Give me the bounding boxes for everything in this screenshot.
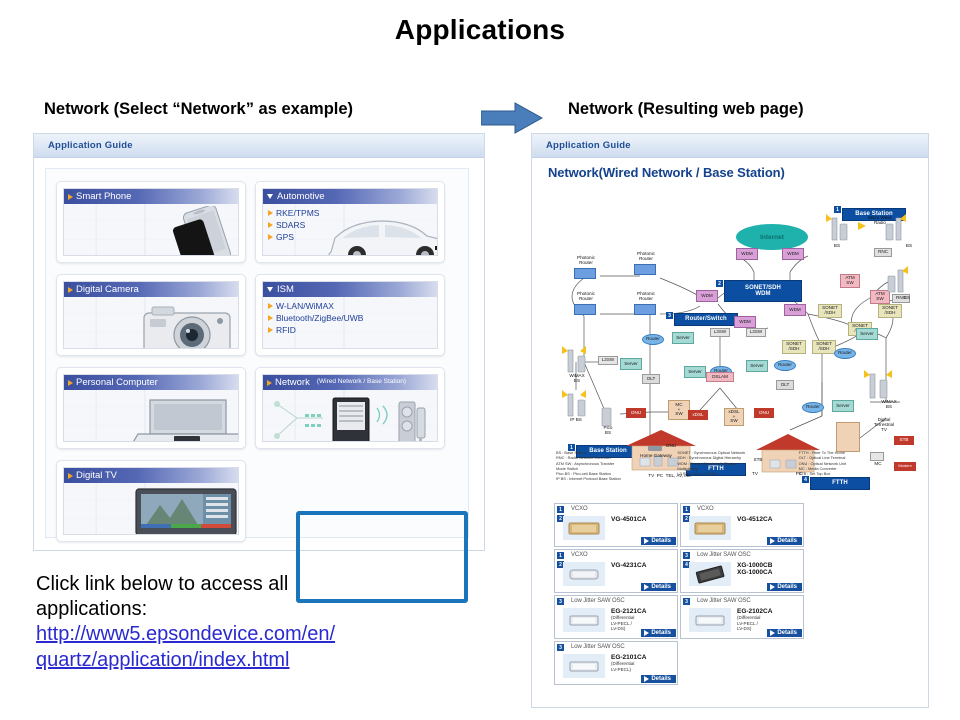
product-card[interactable]: 3 Low Jitter SAW OSC EG-2101CA (Differen… [554,641,678,685]
product-category: Low Jitter SAW OSC [555,642,677,650]
list-item-label: RKE/TPMS [276,208,319,218]
tile-ism[interactable]: ISM W-LAN/WiMAX Bluetooth/ZigBee/UWB RFI… [255,274,445,356]
details-label: Details [651,676,671,682]
tile-label: Automotive [277,191,325,202]
product-image [689,516,731,540]
instruction-line-1: Click link below to access all [36,573,288,595]
product-card[interactable]: 1 2 VCXO VG-4501CA Details [554,503,678,547]
product-badge: 1 [557,552,564,559]
caption-left: Network (Select “Network” as example) [44,100,353,119]
arrow-marker-icon [68,380,73,386]
node-label-wimax-bs-left: WiMAXBS [558,374,596,384]
instruction-line-2: applications: [36,598,147,620]
arrow-marker-icon [644,676,649,682]
tile-digital-camera[interactable]: Digital Camera [56,274,246,356]
arrow-marker-icon [644,584,649,590]
details-button[interactable]: Details [641,537,676,545]
product-image [689,608,731,632]
tile-automotive[interactable]: Automotive RKE/TPMS SDARS GPS [255,181,445,263]
caret-down-icon [267,194,273,199]
product-image [563,562,605,586]
legend-column-3: FTTH : Fiber To The Home OLT : Optical L… [799,450,912,482]
network-tile-selection-highlight [296,511,468,603]
list-item-label: W-LAN/WiMAX [276,301,334,311]
product-image [689,562,731,586]
car-illustration [323,208,437,255]
arrow-marker-icon [770,630,775,636]
tile-network[interactable]: Network (Wired Network / Base Station) [255,367,445,449]
product-badge: 1 [557,506,564,513]
right-arrow-icon [481,101,543,135]
list-item-label: RFID [276,325,296,335]
link-url-line-1: http://www5.epsondevice.com/en/ [36,623,335,645]
product-name: EG-2101CA (Differential LV-PECL) [611,654,646,672]
right-browser-window: Application Guide Network(Wired Network … [531,133,929,708]
node-label-digital-terrestrial-tv: DigitalTerrestrialTV [862,418,906,433]
application-index-link[interactable]: http://www5.epsondevice.com/en/ quartz/a… [36,622,506,672]
product-card[interactable]: 1 2 VCXO VG-4512CA Details [680,503,804,547]
arrow-marker-icon [268,315,273,321]
node-label-wimax-bs-right: WiMAXBS [870,400,908,410]
product-category: Low Jitter SAW OSC [681,596,803,604]
product-category: VCXO [681,504,803,512]
product-name: EG-2121CA (Differential LV-PECL / LV-DS) [611,608,646,631]
network-page-title: Network(Wired Network / Base Station) [548,165,785,180]
list-item-label: SDARS [276,220,305,230]
tile-personal-computer[interactable]: Personal Computer [56,367,246,449]
right-app-guide-header: Application Guide [532,134,928,158]
tile-row: Smart Phone [56,181,458,263]
arrow-marker-icon [770,538,775,544]
details-button[interactable]: Details [641,583,676,591]
node-label-bs-left: BS [826,244,848,249]
left-app-guide-title: Application Guide [48,140,133,151]
smart-phone-illustration [160,206,238,255]
legend-column-2: SONET : Synchronous Optical Network SDH … [677,450,790,482]
arrow-marker-icon [268,303,273,309]
list-item[interactable]: RKE/TPMS [268,208,319,218]
details-button[interactable]: Details [641,629,676,637]
product-column-right: 1 2 VCXO VG-4512CA Details 3 4 Low Jitte… [680,503,804,641]
node-label-bs-right: BS [898,244,920,249]
product-category: Low Jitter SAW OSC [555,596,677,604]
arrow-marker-icon [644,538,649,544]
left-app-guide-header: Application Guide [34,134,484,158]
tile-digital-tv[interactable]: Digital TV [56,460,246,542]
diagram-legend: BS : Base Station RNC : Radio Network Co… [556,450,912,482]
product-name-text: EG-2102CA [737,608,772,615]
arrow-marker-icon [68,473,73,479]
product-name: VG-4231CA [611,562,646,569]
product-name: EG-2102CA (Differential LV-PECL / LV-DS) [737,608,772,631]
tile-label: Network [275,377,310,388]
product-name-text: EG-2101CA [611,654,646,661]
details-button[interactable]: Details [767,537,802,545]
list-item-label: Bluetooth/ZigBee/UWB [276,313,363,323]
right-app-guide-title: Application Guide [546,140,631,151]
node-label-pico-bs: PicoBS [594,426,622,436]
product-badge: 3 [557,644,564,651]
product-subtext: (Differential LV-PECL) [611,661,646,671]
details-label: Details [651,538,671,544]
tile-label: Personal Computer [76,377,158,388]
product-name: VG-4501CA [611,516,646,523]
node-label-bs-mid: BS [896,296,918,301]
product-badge: 3 [683,598,690,605]
list-item[interactable]: SDARS [268,220,319,230]
product-badge: 3 [557,598,564,605]
product-card[interactable]: 3 Low Jitter SAW OSC EG-2121CA (Differen… [554,595,678,639]
legend-column-1: BS : Base Station RNC : Radio Network Co… [556,450,669,482]
list-item[interactable]: W-LAN/WiMAX [268,301,363,311]
node-building [836,422,860,452]
node-label-ip-bs: IP BS [560,418,592,423]
page-title: Applications [0,14,960,46]
product-column-left: 1 2 VCXO VG-4501CA Details 1 2 VCXO [554,503,678,687]
tile-label: ISM [277,284,294,295]
application-guide-tile-grid: Smart Phone [45,168,469,538]
tile-bullet-list: RKE/TPMS SDARS GPS [268,208,319,244]
product-badge: 1 [683,506,690,513]
details-button[interactable]: Details [767,629,802,637]
tile-smart-phone[interactable]: Smart Phone [56,181,246,263]
tile-bullet-list: W-LAN/WiMAX Bluetooth/ZigBee/UWB RFID [268,301,363,337]
details-button[interactable]: Details [767,583,802,591]
arrow-marker-icon [268,210,273,216]
camera-illustration [136,301,238,348]
product-category: VCXO [555,550,677,558]
node-label-micro-wave-radio: Micro WaveRadio [858,216,902,226]
arrow-marker-icon [68,194,73,200]
left-browser-window: Application Guide Smart Phone [33,133,485,551]
product-image [563,516,605,540]
node-stb-terrestrial: STB [894,436,914,445]
list-item[interactable]: GPS [268,232,319,242]
product-card[interactable]: 3 Low Jitter SAW OSC EG-2102CA (Differen… [680,595,804,639]
caret-down-icon [267,287,273,292]
arrow-marker-icon [267,380,272,386]
arrow-marker-icon [644,630,649,636]
tile-label: Smart Phone [76,191,131,202]
arrow-marker-icon [268,222,273,228]
arrow-marker-icon [68,287,73,293]
product-name-text: EG-2121CA [611,608,646,615]
tile-sublabel: (Wired Network / Base Station) [317,379,406,386]
link-url-line-2: quartz/application/index.html [36,649,289,671]
product-image [563,654,605,678]
details-button[interactable]: Details [641,675,676,683]
details-label: Details [777,538,797,544]
caption-right: Network (Resulting web page) [568,100,804,119]
product-category: Low Jitter SAW OSC [681,550,803,558]
list-item-label: GPS [276,232,294,242]
details-label: Details [651,630,671,636]
details-label: Details [777,584,797,590]
tv-illustration [130,485,238,534]
details-label: Details [777,630,797,636]
product-category: VCXO [555,504,677,512]
laptop-illustration [122,394,238,441]
network-illustration [267,392,437,441]
tile-label: Digital TV [76,470,117,481]
product-badge: 3 [683,552,690,559]
product-image [563,608,605,632]
node-label-onu-home: ONU [660,444,682,449]
list-item[interactable]: RFID [268,325,363,335]
arrow-marker-icon [770,584,775,590]
product-name: VG-4512CA [737,516,772,523]
details-label: Details [651,584,671,590]
product-card[interactable]: 1 2 VCXO VG-4231CA Details [554,549,678,593]
tile-label: Digital Camera [76,284,139,295]
product-name: XG-1000CB XG-1000CA [737,562,772,577]
tile-row: Digital Camera [56,274,458,356]
arrow-marker-icon [268,327,273,333]
tile-row: Personal Computer [56,367,458,449]
arrow-marker-icon [268,234,273,240]
product-card[interactable]: 3 4 Low Jitter SAW OSC XG-1000CB XG-1000… [680,549,804,593]
slide-root: Applications Network (Select “Network” a… [0,0,960,720]
list-item[interactable]: Bluetooth/ZigBee/UWB [268,313,363,323]
